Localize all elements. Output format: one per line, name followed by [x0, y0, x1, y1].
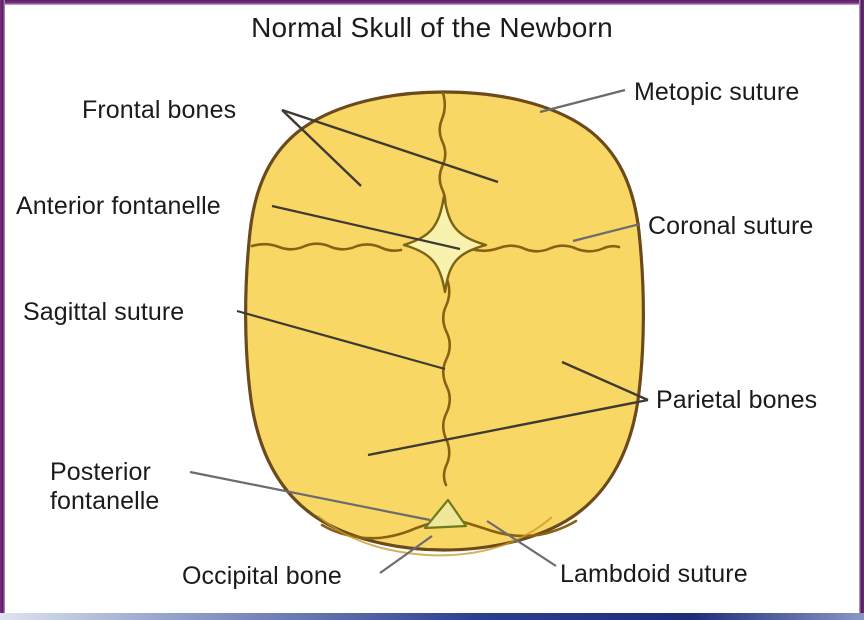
label-metopic-suture: Metopic suture	[634, 78, 799, 107]
label-posterior-fontanelle: Posterior fontanelle	[50, 458, 159, 516]
label-lambdoid-suture: Lambdoid suture	[560, 560, 748, 589]
label-sagittal-suture: Sagittal suture	[23, 298, 184, 327]
slide-canvas: Normal Skull of the Newborn	[0, 0, 864, 620]
label-coronal-suture: Coronal suture	[648, 212, 813, 241]
label-occipital-bone: Occipital bone	[182, 562, 342, 591]
label-posterior-fontanelle-line2: fontanelle	[50, 487, 159, 516]
label-anterior-fontanelle: Anterior fontanelle	[16, 192, 221, 221]
leader-metopic-suture	[540, 90, 625, 112]
label-frontal-bones: Frontal bones	[82, 96, 236, 125]
label-parietal-bones: Parietal bones	[656, 386, 817, 415]
label-posterior-fontanelle-line1: Posterior	[50, 458, 159, 487]
